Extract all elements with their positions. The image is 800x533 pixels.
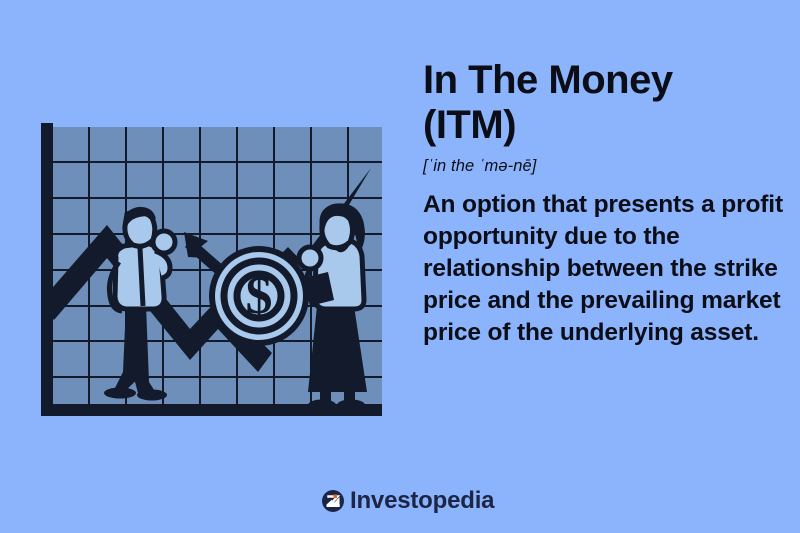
dollar-sign: $	[246, 265, 273, 325]
dollar-target: $	[209, 246, 309, 346]
logo-wordmark: Investopedia	[350, 489, 494, 513]
definition-panel: In The Money (ITM) [ˈin the ˈmə-nē] An o…	[423, 58, 783, 349]
investopedia-z-mark-icon	[322, 490, 344, 512]
pronunciation: [ˈin the ˈmə-nē]	[423, 157, 783, 176]
page-title: In The Money (ITM)	[423, 58, 783, 148]
illustration: $	[22, 110, 388, 428]
infographic-card: $	[0, 0, 800, 533]
chart-illustration-svg: $	[22, 110, 388, 428]
investopedia-logo: Investopedia	[322, 489, 494, 513]
definition-text: An option that presents a profit opportu…	[423, 189, 783, 349]
